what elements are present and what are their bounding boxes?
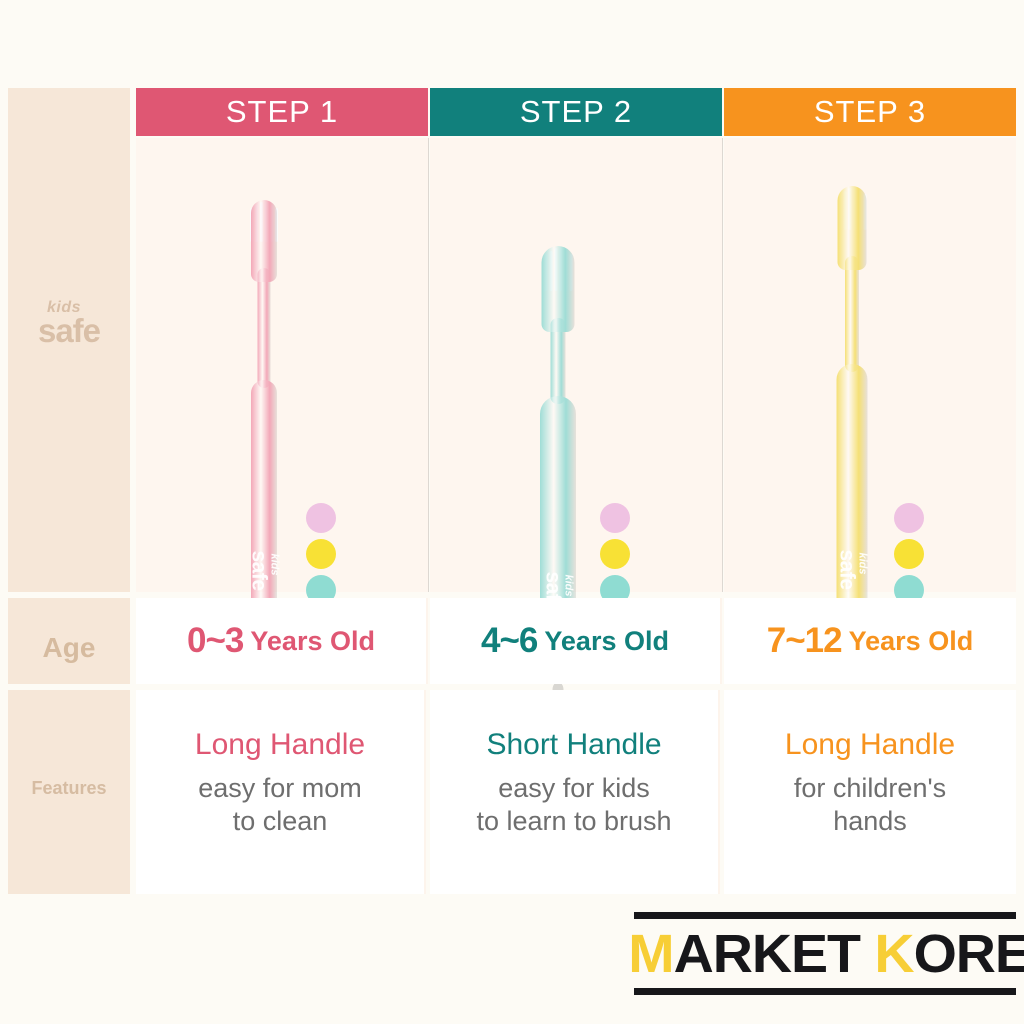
step-header-3: STEP 3	[724, 88, 1016, 136]
feature-title-1: Long Handle	[195, 728, 365, 763]
swatch-1-2	[306, 539, 336, 569]
product-image-cell-2: kids safe	[430, 138, 723, 592]
swatch-3-2	[894, 539, 924, 569]
comparison-table: kids safe Age Features STEP 1 kids safe	[0, 88, 1024, 894]
logo-k: K	[874, 924, 913, 984]
age-unit-2: Years Old	[544, 626, 669, 657]
brush-logo-line1-3: kids	[857, 537, 868, 589]
brush-neck-3	[845, 256, 859, 372]
swatch-2-1	[600, 503, 630, 533]
age-cell-2: 4~6 Years Old	[430, 598, 722, 684]
brush-logo-1: kids safe	[249, 550, 280, 590]
features-row-label: Features	[8, 778, 130, 799]
age-cell-3: 7~12 Years Old	[724, 598, 1016, 684]
age-number-2: 4~6	[481, 621, 537, 661]
feature-title-2: Short Handle	[486, 728, 661, 763]
market-korea-logo: MARKET KOREA	[634, 912, 1016, 995]
toothbrush-illustration-1: kids safe	[234, 200, 294, 630]
brush-logo-3: kids safe	[837, 549, 868, 589]
feature-desc-3: for children's hands	[794, 772, 946, 839]
brush-grip-3	[837, 364, 868, 634]
sidebar-brand-cell: kids safe	[8, 88, 130, 592]
features-cell-1: Long Handle easy for mom to clean	[136, 690, 426, 894]
age-cell-1: 0~3 Years Old	[136, 598, 428, 684]
brush-logo-line1-1: kids	[269, 538, 280, 590]
sidebar-age-cell: Age	[8, 598, 130, 684]
toothbrush-illustration-3: kids safe	[822, 186, 882, 634]
age-unit-3: Years Old	[849, 626, 974, 657]
logo-arket: ARKET	[674, 924, 875, 984]
brush-logo-line2-3: safe	[837, 549, 858, 589]
brush-head-2	[542, 246, 575, 332]
brush-head-3	[838, 186, 867, 270]
age-number-1: 0~3	[187, 621, 243, 661]
brush-grip-1	[251, 380, 277, 630]
brush-neck-1	[258, 268, 271, 388]
feature-desc-2: easy for kids to learn to brush	[476, 772, 671, 839]
brush-logo-line2-1: safe	[249, 550, 270, 590]
logo-m: M	[628, 924, 673, 984]
swatch-1-1	[306, 503, 336, 533]
toothbrush-illustration-2: kids safe	[528, 246, 588, 626]
logo-orea: OREA	[914, 924, 1024, 984]
product-image-cell-1: kids safe	[136, 138, 429, 592]
age-row-label: Age	[8, 632, 130, 664]
features-cell-2: Short Handle easy for kids to learn to b…	[430, 690, 720, 894]
features-cell-3: Long Handle for children's hands	[724, 690, 1016, 894]
logo-wordmark: MARKET KOREA	[628, 927, 1021, 982]
kids-safe-logo: kids safe	[8, 300, 130, 347]
logo-rule-bottom	[634, 988, 1016, 995]
swatch-3-1	[894, 503, 924, 533]
feature-desc-1: easy for mom to clean	[198, 772, 362, 839]
swatch-2-2	[600, 539, 630, 569]
sidebar-features-cell: Features	[8, 690, 130, 894]
logo-rule-top	[634, 912, 1016, 919]
kids-safe-logo-line2: safe	[8, 314, 130, 347]
product-image-cell-3: kids safe	[724, 138, 1016, 592]
age-number-3: 7~12	[767, 621, 842, 661]
step-header-1: STEP 1	[136, 88, 428, 136]
age-unit-1: Years Old	[250, 626, 375, 657]
step-header-2: STEP 2	[430, 88, 722, 136]
feature-title-3: Long Handle	[785, 728, 955, 763]
brush-head-1	[251, 200, 277, 282]
